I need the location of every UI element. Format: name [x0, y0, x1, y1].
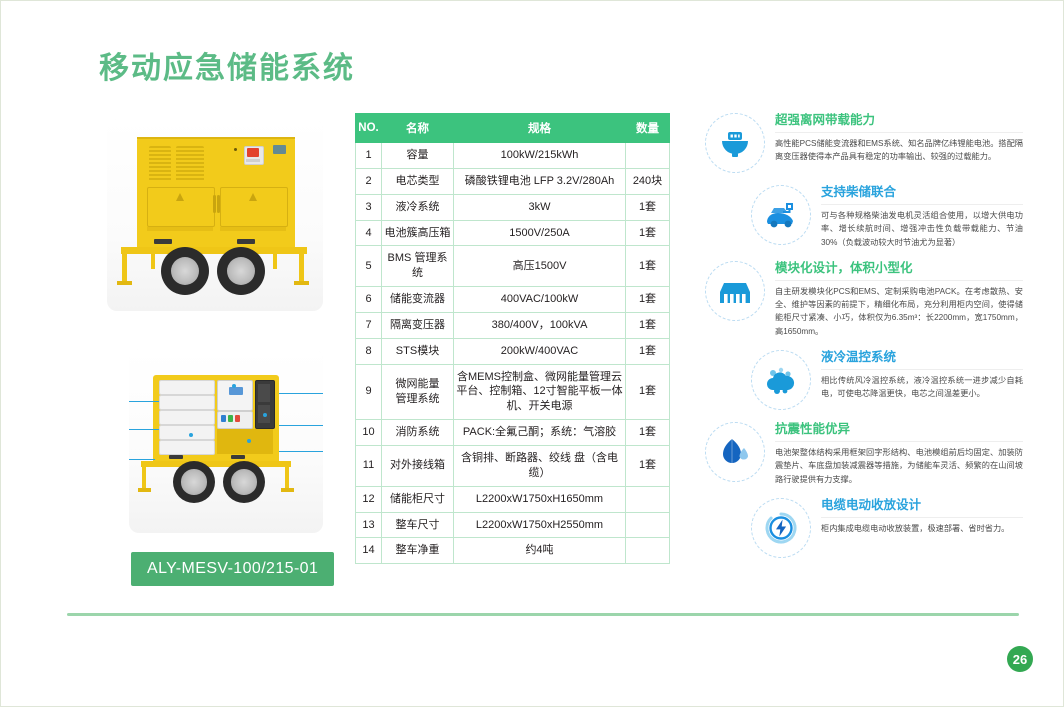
battery-module [159, 380, 215, 395]
wheel-front [173, 461, 215, 503]
cell-spec: 400VAC/100kW [454, 287, 626, 313]
table-header-qty: 数量 [626, 114, 670, 143]
cell-spec: PACK:全氟己酮；系统：气溶胶 [454, 420, 626, 446]
feature-description: 可与各种规格柴油发电机灵活组合使用，以增大供电功率、增长续航时间、增强冲击性负载… [821, 209, 1023, 249]
cell-no: 14 [356, 538, 382, 564]
cell-spec: 高压1500V [454, 246, 626, 287]
battery-shield-icon [705, 113, 765, 173]
battery-module [159, 425, 215, 440]
table-row: 12储能柜尺寸L2200xW1750xH1650mm [356, 486, 670, 512]
cell-name: 液冷系统 [382, 194, 454, 220]
inverter-unit [229, 387, 243, 395]
feature-body: 抗震性能优异电池架整体结构采用框架回字形结构、电池模组前后均固定、加装防震垫片、… [765, 416, 1023, 486]
feature-title: 模块化设计，体积小型化 [775, 257, 1023, 281]
cell-name: 电芯类型 [382, 168, 454, 194]
breaker-blue [221, 415, 226, 422]
cell-name: STS模块 [382, 338, 454, 364]
cell-qty [626, 512, 670, 538]
cell-no: 10 [356, 420, 382, 446]
feature-body: 超强离网带载能力高性能PCS储能变流器和EMS系统、知名品牌亿纬锂能电池。搭配隔… [765, 107, 1023, 173]
table-row: 9微网能量管理系统含MEMS控制盒、微网能量管理云平台、控制箱、12寸智能平板一… [356, 364, 670, 420]
support-foot [117, 281, 132, 285]
product-interior-image [129, 349, 323, 533]
cell-name: 整车尺寸 [382, 512, 454, 538]
breaker-green [228, 415, 233, 422]
table-header-no: NO. [356, 114, 382, 143]
table-row: 14整车净重约4吨 [356, 538, 670, 564]
cell-name: 隔离变压器 [382, 312, 454, 338]
cell-name: 整车净重 [382, 538, 454, 564]
louver-vent-left [149, 146, 171, 182]
cell-name: BMS 管理系统 [382, 246, 454, 287]
modular-rack-icon [705, 261, 765, 321]
indicator-lamp [234, 148, 237, 151]
under-vent [154, 239, 172, 244]
table-header-name: 名称 [382, 114, 454, 143]
breaker-red [235, 415, 240, 422]
page-title: 移动应急储能系统 [99, 43, 355, 87]
page-number-badge: 26 [1007, 646, 1033, 672]
feature-description: 柜内集成电缆电动收放装置，极速部署、省时省力。 [821, 522, 1023, 535]
warning-triangle-icon [249, 193, 257, 201]
battery-module [159, 440, 215, 455]
warning-triangle-icon [176, 193, 184, 201]
table-row: 2电芯类型磷酸铁锂电池 LFP 3.2V/280Ah240块 [356, 168, 670, 194]
cell-name: 电池簇高压箱 [382, 220, 454, 246]
cell-no: 4 [356, 220, 382, 246]
callout-line [129, 401, 159, 402]
battery-module [159, 410, 215, 425]
callout-line [279, 451, 323, 452]
transformer-core [258, 384, 270, 402]
cell-qty [626, 538, 670, 564]
table-row: 6储能变流器400VAC/100kW1套 [356, 287, 670, 313]
cell-qty: 240块 [626, 168, 670, 194]
cell-no: 9 [356, 364, 382, 420]
feature-item: 超强离网带载能力高性能PCS储能变流器和EMS系统、知名品牌亿纬锂能电池。搭配隔… [705, 107, 1023, 173]
cell-spec: 含MEMS控制盒、微网能量管理云平台、控制箱、12寸智能平板一体机、开关电源 [454, 364, 626, 420]
feature-description: 自主研发模块化PCS和EMS、定制采购电池PACK。在考虑散热、安全、维护等因素… [775, 285, 1023, 338]
feature-body: 支持柴储联合可与各种规格柴油发电机灵活组合使用，以增大供电功率、增长续航时间、增… [811, 179, 1023, 249]
product-model-badge: ALY-MESV-100/215-01 [131, 552, 334, 586]
specification-table-body: 1容量100kW/215kWh2电芯类型磷酸铁锂电池 LFP 3.2V/280A… [356, 143, 670, 564]
table-row: 13整车尺寸L2200xW1750xH2550mm [356, 512, 670, 538]
wheel-rim [228, 258, 255, 285]
feature-item: 模块化设计，体积小型化自主研发模块化PCS和EMS、定制采购电池PACK。在考虑… [705, 255, 1023, 338]
feature-body: 模块化设计，体积小型化自主研发模块化PCS和EMS、定制采购电池PACK。在考虑… [765, 255, 1023, 338]
wheel-rear [223, 461, 265, 503]
cell-no: 11 [356, 445, 382, 486]
table-row: 1容量100kW/215kWh [356, 143, 670, 169]
cabinet-top-edge [137, 137, 295, 139]
cell-no: 5 [356, 246, 382, 287]
door-sill-right [220, 227, 286, 231]
cell-qty: 1套 [626, 287, 670, 313]
cell-no: 3 [356, 194, 382, 220]
wheel-front [161, 247, 209, 295]
brand-logo [273, 145, 286, 154]
cell-qty: 1套 [626, 364, 670, 420]
feature-body: 电缆电动收放设计柜内集成电缆电动收放装置，极速部署、省时省力。 [811, 492, 1023, 558]
cell-name: 对外接线箱 [382, 445, 454, 486]
support-leg [122, 253, 127, 283]
trailer-chassis [121, 247, 307, 254]
footer-divider [67, 613, 1019, 616]
callout-line [279, 393, 323, 394]
callout-line [279, 425, 323, 426]
cell-qty: 1套 [626, 445, 670, 486]
door-hinge [213, 195, 216, 213]
cell-qty: 1套 [626, 312, 670, 338]
feature-title: 支持柴储联合 [821, 181, 1023, 205]
feature-description: 电池架整体结构采用框架回字形结构、电池模组前后均固定、加装防震垫片、车底盘加装减… [775, 446, 1023, 486]
product-exterior-image [107, 119, 323, 311]
support-foot [281, 488, 294, 492]
cell-no: 1 [356, 143, 382, 169]
support-leg [299, 253, 304, 283]
cell-spec: 磷酸铁锂电池 LFP 3.2V/280Ah [454, 168, 626, 194]
wheel-rim [182, 470, 206, 494]
feature-item: 抗震性能优异电池架整体结构采用框架回字形结构、电池模组前后均固定、加装防震垫片、… [705, 416, 1023, 486]
callout-point [247, 439, 251, 443]
wheel-rear [217, 247, 265, 295]
cell-qty [626, 486, 670, 512]
cell-no: 7 [356, 312, 382, 338]
feature-list: 超强离网带载能力高性能PCS储能变流器和EMS系统、知名品牌亿纬锂能电池。搭配隔… [705, 107, 1023, 564]
table-row: 4电池簇高压箱1500V/250A1套 [356, 220, 670, 246]
feature-title: 抗震性能优异 [775, 418, 1023, 442]
callout-line [129, 429, 159, 430]
callout-point [232, 384, 236, 388]
cell-spec: 3kW [454, 194, 626, 220]
cell-spec: 380/400V，100kVA [454, 312, 626, 338]
callout-line [129, 459, 155, 460]
door-sill-left [147, 227, 213, 231]
support-leg [285, 466, 289, 490]
table-row: 7隔离变压器380/400V，100kVA1套 [356, 312, 670, 338]
specification-table: NO. 名称 规格 数量 1容量100kW/215kWh2电芯类型磷酸铁锂电池 … [355, 113, 670, 564]
cell-qty: 1套 [626, 338, 670, 364]
cell-qty [626, 143, 670, 169]
support-foot [294, 281, 309, 285]
support-leg [142, 466, 146, 490]
feature-title: 液冷温控系统 [821, 346, 1023, 370]
cable-compartment [217, 429, 273, 454]
feature-description: 相比传统风冷温控系统，液冷温控系统一进步减少自耗电，可使电芯降温更快，电芯之间温… [821, 374, 1023, 401]
callout-point [263, 413, 267, 417]
under-vent [231, 455, 245, 459]
slide-content: 移动应急储能系统 [11, 11, 1053, 696]
table-header-spec: 规格 [454, 114, 626, 143]
feature-item: 电缆电动收放设计柜内集成电缆电动收放装置，极速部署、省时省力。 [751, 492, 1023, 558]
cell-spec: 200kW/400VAC [454, 338, 626, 364]
cell-qty: 1套 [626, 420, 670, 446]
cell-qty: 1套 [626, 246, 670, 287]
cell-spec: L2200xW1750xH1650mm [454, 486, 626, 512]
feature-title: 超强离网带载能力 [775, 109, 1023, 133]
cell-spec: 1500V/250A [454, 220, 626, 246]
cell-spec: 含铜排、断路器、绞线 盘（含电缆） [454, 445, 626, 486]
liquid-cooling-cloud-icon [751, 350, 811, 410]
cell-qty: 1套 [626, 194, 670, 220]
axle-mount [273, 253, 277, 269]
louver-vent-right [176, 146, 204, 182]
callout-point [189, 433, 193, 437]
feature-body: 液冷温控系统相比传统风冷温控系统，液冷温控系统一进步减少自耗电，可使电芯降温更快… [811, 344, 1023, 410]
axle-mount [151, 253, 155, 269]
cell-name: 容量 [382, 143, 454, 169]
cell-no: 12 [356, 486, 382, 512]
table-row: 5BMS 管理系统高压1500V1套 [356, 246, 670, 287]
cell-no: 6 [356, 287, 382, 313]
under-vent [237, 239, 255, 244]
cell-no: 2 [356, 168, 382, 194]
table-header-row: NO. 名称 规格 数量 [356, 114, 670, 143]
cell-spec: L2200xW1750xH2550mm [454, 512, 626, 538]
battery-module [159, 395, 215, 410]
cell-name: 储能变流器 [382, 287, 454, 313]
door-hinge [217, 195, 220, 213]
cell-no: 8 [356, 338, 382, 364]
table-row: 3液冷系统3kW1套 [356, 194, 670, 220]
cell-name: 储能柜尺寸 [382, 486, 454, 512]
cell-spec: 100kW/215kWh [454, 143, 626, 169]
cell-name: 微网能量管理系统 [382, 364, 454, 420]
cell-name: 消防系统 [382, 420, 454, 446]
trailer-chassis [141, 461, 291, 467]
feature-item: 支持柴储联合可与各种规格柴油发电机灵活组合使用，以增大供电功率、增长续航时间、增… [751, 179, 1023, 249]
emergency-stop-button [247, 148, 259, 157]
table-row: 8STS模块200kW/400VAC1套 [356, 338, 670, 364]
under-vent [169, 455, 183, 459]
slide-page: 移动应急储能系统 [0, 0, 1064, 707]
panel-label [246, 159, 260, 162]
cell-qty: 1套 [626, 220, 670, 246]
ev-charging-car-icon [751, 185, 811, 245]
feature-title: 电缆电动收放设计 [821, 494, 1023, 518]
feature-description: 高性能PCS储能变流器和EMS系统、知名品牌亿纬锂能电池。搭配隔离变压器使得本产… [775, 137, 1023, 164]
support-foot [138, 488, 151, 492]
wheel-rim [232, 470, 256, 494]
shock-absorb-leaf-icon [705, 422, 765, 482]
cable-reel-bolt-icon [751, 498, 811, 558]
table-row: 10消防系统PACK:全氟己酮；系统：气溶胶1套 [356, 420, 670, 446]
cell-spec: 约4吨 [454, 538, 626, 564]
cell-no: 13 [356, 512, 382, 538]
wheel-rim [172, 258, 199, 285]
feature-item: 液冷温控系统相比传统风冷温控系统，液冷温控系统一进步减少自耗电，可使电芯降温更快… [751, 344, 1023, 410]
table-row: 11对外接线箱含铜排、断路器、绞线 盘（含电缆）1套 [356, 445, 670, 486]
